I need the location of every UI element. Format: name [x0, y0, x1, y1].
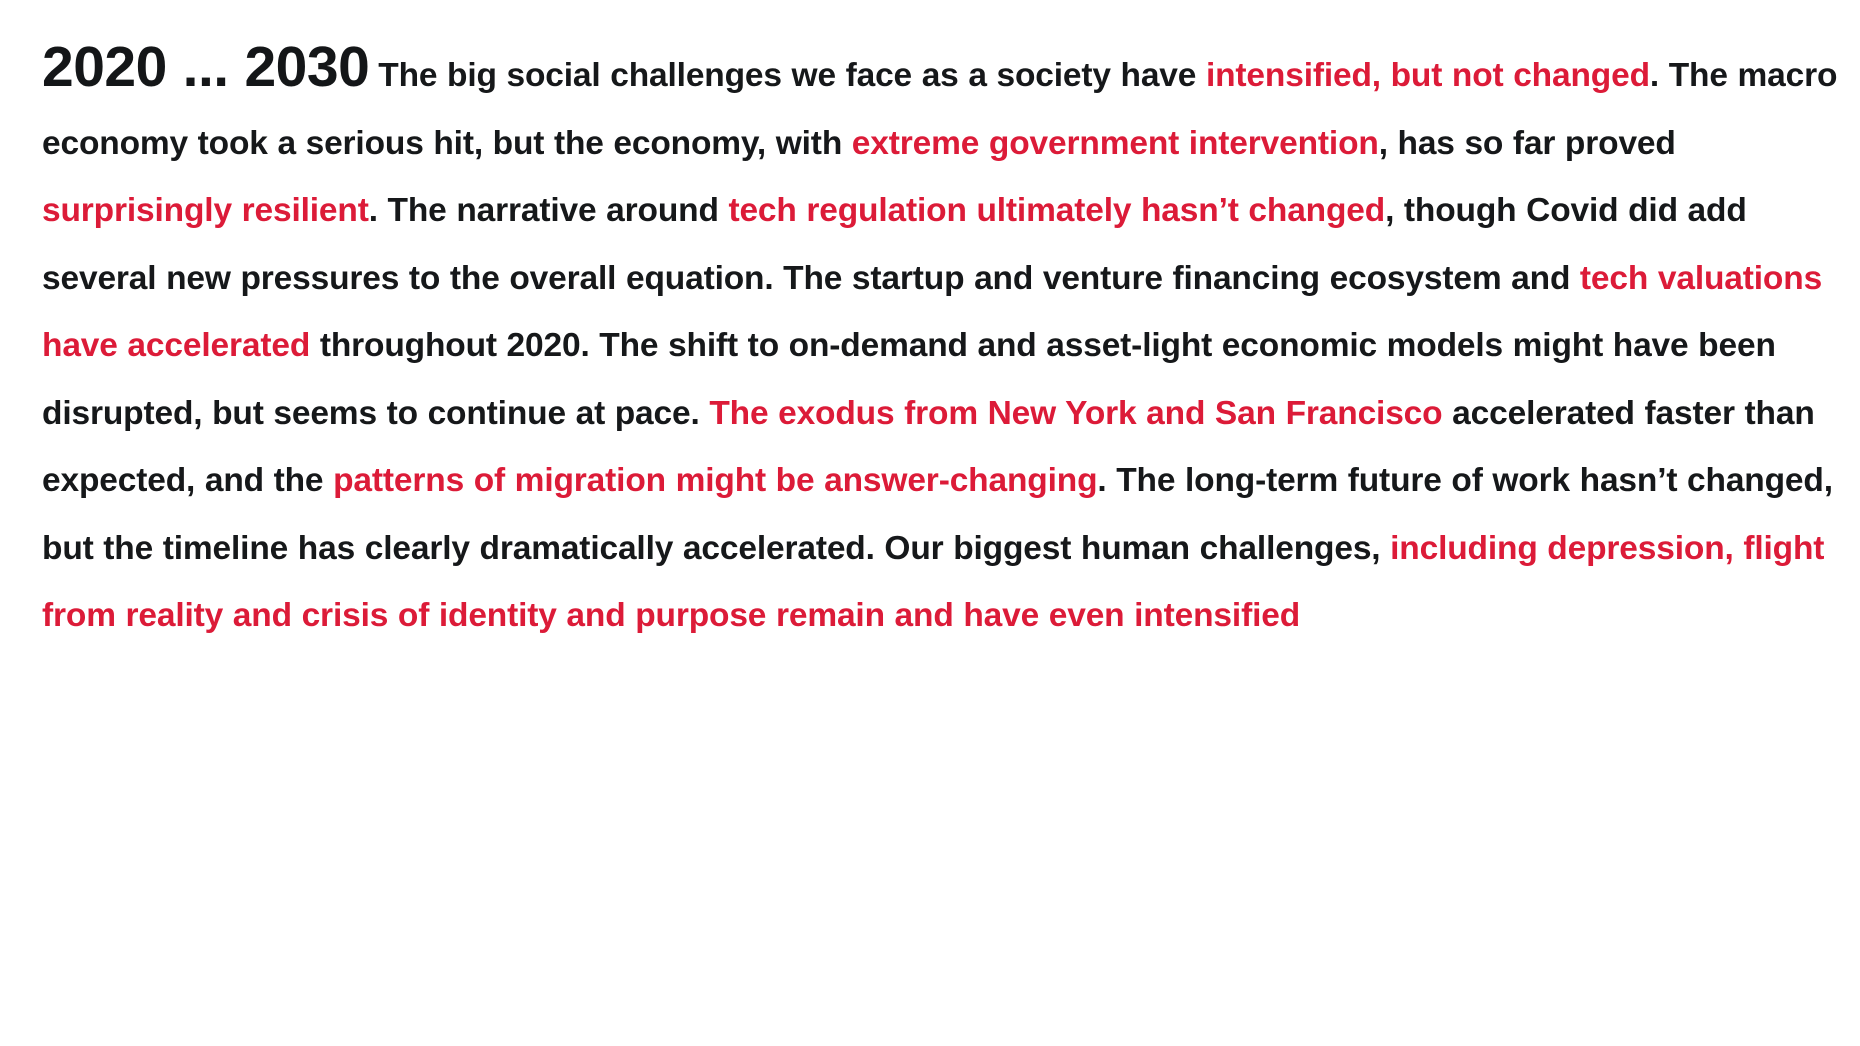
- text-run-accent-7: tech regulation ultimately hasn’t change…: [728, 192, 1385, 229]
- slide-heading: 2020 ... 2030: [42, 35, 369, 99]
- text-run-accent-1: intensified, but not changed: [1206, 57, 1650, 94]
- slide-body-paragraph: 2020 ... 2030The big social challenges w…: [42, 34, 1850, 650]
- slide-canvas: 2020 ... 2030The big social challenges w…: [0, 0, 1860, 1046]
- text-run-accent-13: patterns of migration might be answer-ch…: [333, 462, 1097, 499]
- text-run-accent-11: The exodus from New York and San Francis…: [709, 395, 1442, 432]
- text-run-accent-3: extreme government intervention: [852, 125, 1379, 162]
- text-run-default-4: , has so far proved: [1379, 125, 1676, 162]
- body-text-runs: The big social challenges we face as a s…: [42, 57, 1837, 634]
- text-run-default-6: . The narrative around: [369, 192, 729, 229]
- text-run-accent-5: surprisingly resilient: [42, 192, 369, 229]
- text-run-default-0: The big social challenges we face as a s…: [378, 57, 1206, 94]
